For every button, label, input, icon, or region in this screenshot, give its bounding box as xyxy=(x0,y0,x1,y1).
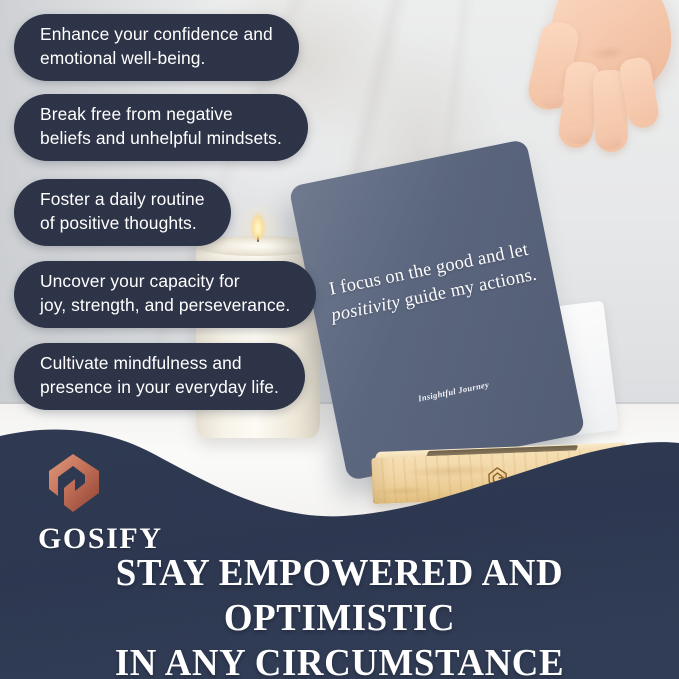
gosify-g-mark-burned-icon xyxy=(488,467,508,490)
benefit-item-1: Enhance your confidence and emotional we… xyxy=(14,14,299,81)
benefit-3-line-2: of positive thoughts. xyxy=(40,212,205,236)
benefit-item-2: Break free from negative beliefs and unh… xyxy=(14,94,308,161)
wooden-card-stand xyxy=(371,442,639,506)
benefit-item-3: Foster a daily routine of positive thoug… xyxy=(14,179,231,246)
benefit-5-line-1: Cultivate mindfulness and xyxy=(40,352,279,376)
benefit-2-line-1: Break free from negative xyxy=(40,103,282,127)
benefit-2-line-2: beliefs and unhelpful mindsets. xyxy=(40,127,282,151)
benefit-1-line-1: Enhance your confidence and xyxy=(40,23,273,47)
benefit-item-4: Uncover your capacity for joy, strength,… xyxy=(14,261,316,328)
benefit-3-line-1: Foster a daily routine xyxy=(40,188,205,212)
candle-flame-icon xyxy=(250,206,266,240)
headline-line-1: STAY EMPOWERED AND OPTIMISTIC xyxy=(10,551,669,641)
brand-block: GOSIFY xyxy=(38,452,163,556)
footer-headline: STAY EMPOWERED AND OPTIMISTIC IN ANY CIR… xyxy=(0,551,679,679)
g-mark-path xyxy=(49,454,99,512)
hand-holding-card xyxy=(528,0,679,196)
fingernail-middle xyxy=(565,125,591,145)
headline-line-2: IN ANY CIRCUMSTANCE xyxy=(10,641,669,679)
benefit-4-line-1: Uncover your capacity for xyxy=(40,270,290,294)
benefit-4-line-2: joy, strength, and perseverance. xyxy=(40,294,290,318)
stand-right-side xyxy=(621,445,641,496)
gosify-g-mark-icon xyxy=(44,452,102,514)
fingernail-ring xyxy=(598,132,622,150)
benefit-item-5: Cultivate mindfulness and presence in yo… xyxy=(14,343,305,410)
benefit-5-line-2: presence in your everyday life. xyxy=(40,376,279,400)
product-marketing-image: I focus on the good and let positivity g… xyxy=(0,0,679,679)
benefit-1-line-2: emotional well-being. xyxy=(40,47,273,71)
